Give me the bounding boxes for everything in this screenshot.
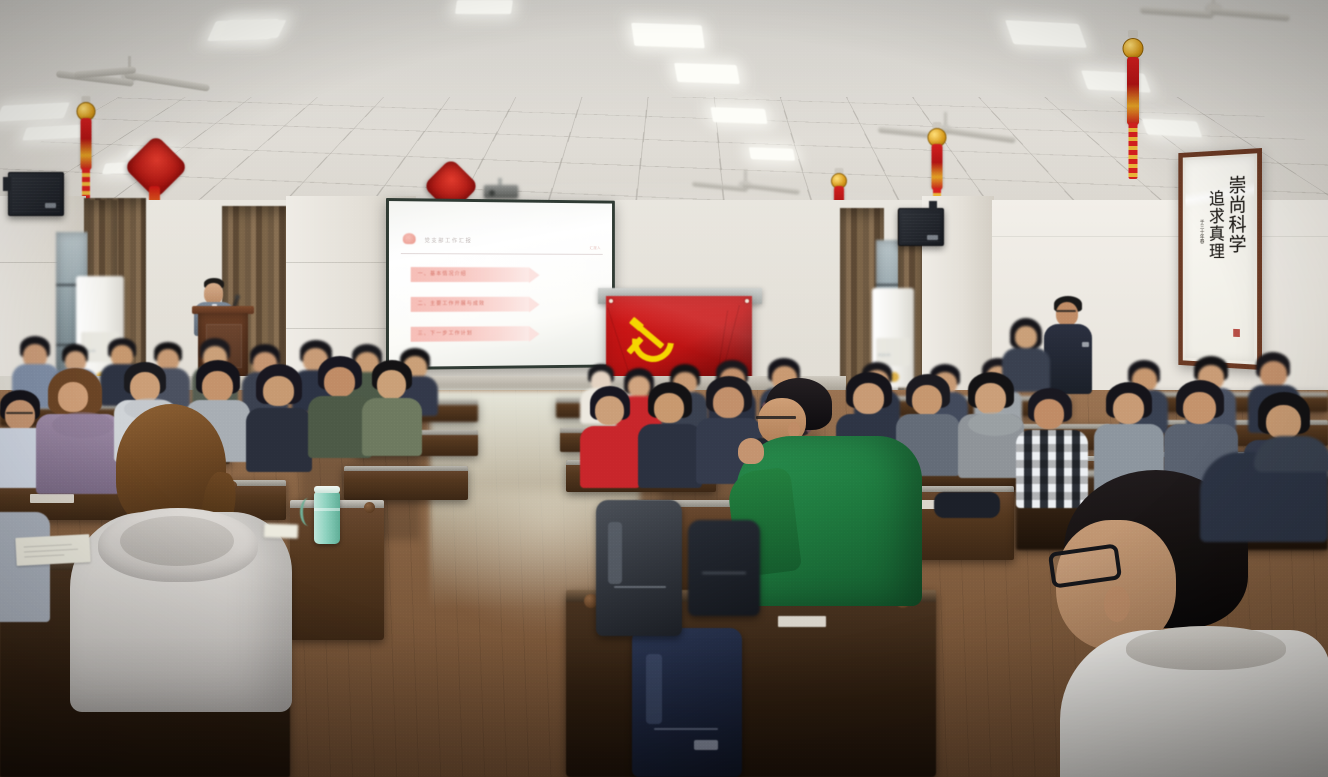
calligraphy-seal <box>1233 329 1240 337</box>
backpack-dark-right <box>688 520 760 616</box>
slide-bullet-bar: 一、基本情况介绍 <box>411 267 529 282</box>
slide-header-title: 党支部工作汇报 <box>425 236 473 244</box>
ceiling-panel-light <box>455 0 513 14</box>
collar <box>1126 626 1286 670</box>
bottle-band <box>314 508 340 511</box>
calligraphy-signature: 于三十年春 <box>1199 219 1204 243</box>
slide-logo-icon <box>403 233 416 244</box>
backpack-zipper <box>654 728 718 730</box>
eyeglasses <box>756 416 796 419</box>
desk-row <box>344 466 468 500</box>
calligraphy-line-2: 追求真理 <box>1206 190 1223 260</box>
backpack-strap <box>608 522 622 584</box>
backpack-logo <box>694 740 718 750</box>
slide-bullet-text: 一、基本情况介绍 <box>418 270 467 277</box>
ear <box>1104 586 1130 622</box>
notebook-paper <box>264 523 298 538</box>
calligraphy-line-1: 崇尚科学 <box>1227 175 1246 254</box>
lecture-hall-photograph: AQUA AQUA 崇尚科学 追求真理 于三十年春 <box>0 0 1328 777</box>
slide-corner-note: 汇报人 <box>590 246 601 251</box>
ceiling-panel-light <box>1005 20 1087 48</box>
backpack-grey <box>596 500 682 636</box>
bottle-strap <box>300 498 317 526</box>
slide-bullet-bar: 二、主要工作开展与成效 <box>411 297 529 312</box>
screen-surface: 党支部工作汇报 汇报人 一、基本情况介绍 二、主要工作开展与成效 三、下一步工作… <box>389 201 612 367</box>
hand-to-chin <box>738 438 764 464</box>
presenter-head <box>204 283 223 304</box>
ceiling-panel-light <box>1142 119 1203 138</box>
wall-seam <box>992 236 1328 237</box>
water-bottle <box>314 492 340 544</box>
ceiling-panel-light <box>220 20 287 38</box>
flag-pin <box>745 299 749 303</box>
chinese-hanging-ornament-right <box>1120 30 1146 182</box>
ceiling-fan-top-right <box>1140 0 1290 42</box>
backpack-navy <box>632 628 742 777</box>
screen-glare <box>389 201 612 367</box>
ceiling-panel-light <box>749 147 795 161</box>
framed-calligraphy: 崇尚科学 追求真理 于三十年春 <box>1178 148 1262 370</box>
eyeglasses <box>1056 310 1076 312</box>
projection-screen: 党支部工作汇报 汇报人 一、基本情况介绍 二、主要工作开展与成效 三、下一步工作… <box>386 198 615 370</box>
wall-speaker-left <box>8 172 64 216</box>
hood-inner <box>120 516 234 566</box>
dark-object-on-desk <box>934 492 1000 518</box>
ceiling-panel-light <box>710 107 767 124</box>
wall-speaker-right <box>898 208 944 246</box>
slide-bullet-text: 三、下一步工作计划 <box>418 329 473 336</box>
flag-pin <box>609 299 613 303</box>
slide-bullet-text: 二、主要工作开展与成效 <box>418 300 485 307</box>
ceiling-panel-light <box>674 63 740 84</box>
backpack-strap <box>646 654 662 724</box>
bottle-cap <box>314 486 340 493</box>
hammer-and-sickle-emblem <box>628 312 680 364</box>
notebook-paper <box>15 534 90 566</box>
backpack-zipper <box>614 586 666 588</box>
ceiling-panel-light <box>631 23 705 48</box>
slide-bullet-bar: 三、下一步工作计划 <box>411 326 529 342</box>
ceiling-fan-far-right <box>880 112 1020 162</box>
